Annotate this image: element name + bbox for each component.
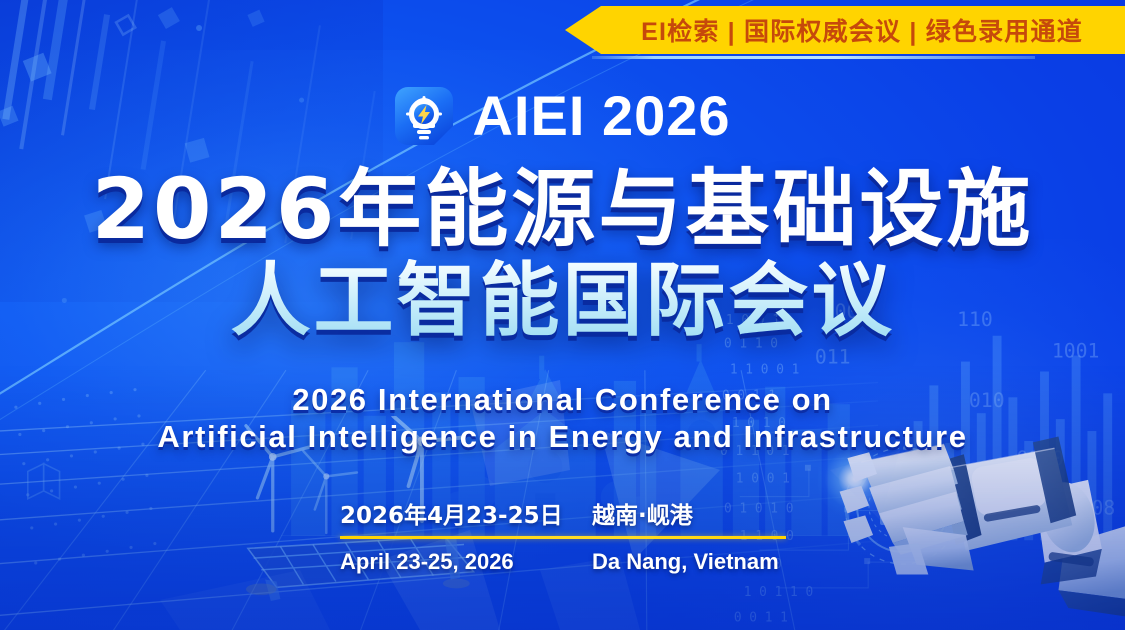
badge-ribbon-shape: EI检索 | 国际权威会议 | 绿色录用通道 — [565, 6, 1125, 54]
svg-text:1 0 1 1 0: 1 0 1 1 0 — [744, 585, 814, 600]
event-place-cn: 越南·岘港 — [592, 496, 693, 530]
english-title-line2: Artificial Intelligence in Energy and In… — [0, 419, 1125, 456]
event-place-en: Da Nang, Vietnam — [592, 549, 779, 575]
chinese-title-line2: 人工智能国际会议 — [0, 259, 1125, 342]
conference-banner: 1 0 0 1 0 1 1 0 1 1 0 0 1 0 0 1 1 1 0 1 … — [0, 0, 1125, 630]
lightbulb-lightning-icon — [394, 86, 454, 146]
hud-ring-graphic — [838, 441, 968, 571]
svg-text:1 0 0 1: 1 0 0 1 — [736, 472, 790, 487]
event-details-cn-row: 2026年4月23-25日 越南·岘港 — [340, 496, 790, 530]
svg-text:011: 011 — [815, 346, 851, 369]
event-date-en: April 23-25, 2026 — [340, 549, 592, 575]
brand-row: AIEI 2026 — [0, 86, 1125, 146]
english-title: 2026 International Conference on Artific… — [0, 382, 1125, 455]
chinese-title-line1: 2026年能源与基础设施 — [0, 166, 1125, 253]
event-date-cn: 2026年4月23-25日 — [340, 496, 592, 530]
event-details: 2026年4月23-25日 越南·岘港 April 23-25, 2026 Da… — [340, 496, 790, 575]
badge-ribbon-underline — [592, 56, 1035, 59]
badge-ribbon: EI检索 | 国际权威会议 | 绿色录用通道 — [565, 6, 1125, 54]
badge-ribbon-label: EI检索 | 国际权威会议 | 绿色录用通道 — [607, 12, 1083, 48]
event-details-divider — [340, 536, 786, 539]
event-details-en-row: April 23-25, 2026 Da Nang, Vietnam — [340, 549, 790, 575]
svg-text:1 1 0 0 1: 1 1 0 0 1 — [730, 363, 800, 378]
svg-text:1001: 1001 — [1052, 340, 1100, 363]
chinese-title: 2026年能源与基础设施 人工智能国际会议 — [0, 166, 1125, 343]
binary-code-texture: 1 0 0 1 0 1 1 0 1 1 0 0 1 0 0 1 1 1 0 1 … — [720, 302, 1125, 630]
brand-name: AIEI 2026 — [472, 88, 730, 144]
svg-text:0 0 1 1: 0 0 1 1 — [734, 611, 788, 626]
svg-text:0108: 0108 — [1068, 497, 1116, 520]
english-title-line1: 2026 International Conference on — [0, 382, 1125, 419]
